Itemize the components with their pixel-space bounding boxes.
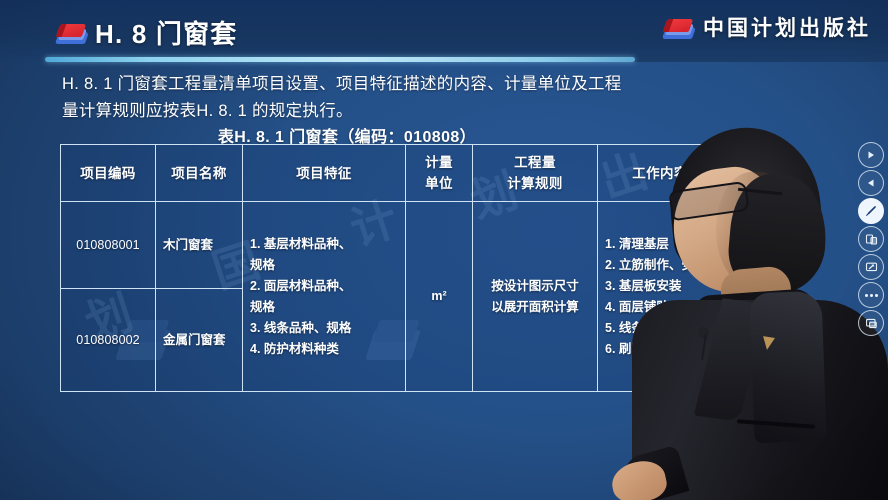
work-item: 6. 刷防护材料 bbox=[605, 339, 715, 360]
cell-name: 金属门窗套 bbox=[156, 289, 243, 392]
play-next-icon[interactable] bbox=[858, 142, 884, 168]
col-header-code: 项目编码 bbox=[61, 145, 156, 202]
more-dots-icon[interactable] bbox=[858, 282, 884, 308]
presenter-sleeve bbox=[619, 445, 690, 500]
cell-work-content: 1. 清理基层 2. 立筋制作、安装 3. 基层板安装 4. 面层铺贴 5. 线… bbox=[598, 202, 723, 392]
work-item: 4. 面层铺贴 bbox=[605, 297, 715, 318]
presenter-neck bbox=[719, 265, 795, 341]
page-title: H. 8 门窗套 bbox=[95, 14, 238, 51]
table-body: 010808001 木门窗套 1. 基层材料品种、 规格 2. 面层材料品种、 … bbox=[61, 202, 723, 392]
feature-item: 3. 线条品种、规格 bbox=[250, 318, 398, 339]
work-item: 3. 基层板安装 bbox=[605, 276, 715, 297]
cell-feature-list: 1. 基层材料品种、 规格 2. 面层材料品种、 规格 3. 线条品种、规格 4… bbox=[243, 202, 406, 392]
col-header-feature: 项目特征 bbox=[243, 145, 406, 202]
screen-share-icon[interactable] bbox=[858, 254, 884, 280]
pen-annotate-icon[interactable] bbox=[858, 198, 884, 224]
cell-name: 木门窗套 bbox=[156, 202, 243, 289]
rule-line: 以展开面积计算 bbox=[480, 297, 590, 318]
rule-line: 按设计图示尺寸 bbox=[480, 276, 590, 297]
work-item: 1. 清理基层 bbox=[605, 234, 715, 255]
book-icon bbox=[664, 15, 694, 39]
intro-line-2: 量计算规则应按表H. 8. 1 的规定执行。 bbox=[62, 98, 642, 125]
col-header-work: 工作内容 bbox=[598, 145, 723, 202]
table-row: 010808001 木门窗套 1. 基层材料品种、 规格 2. 面层材料品种、 … bbox=[61, 202, 723, 289]
table-header-row: 项目编码 项目名称 项目特征 计量 单位 工程量 计算规则 工作内容 bbox=[61, 145, 723, 202]
cell-calculation-rule: 按设计图示尺寸 以展开面积计算 bbox=[473, 202, 598, 392]
feature-item: 4. 防护材料种类 bbox=[250, 339, 398, 360]
col-header-unit: 计量 单位 bbox=[406, 145, 473, 202]
cell-code: 010808002 bbox=[61, 289, 156, 392]
feature-item: 1. 基层材料品种、 bbox=[250, 234, 398, 255]
intro-line-1: H. 8. 1 门窗套工程量清单项目设置、项目特征描述的内容、计量单位及工程 bbox=[62, 71, 642, 98]
right-toolbar[interactable] bbox=[854, 142, 888, 336]
presenter-lapel-right bbox=[749, 291, 826, 443]
col-header-unit-line2: 单位 bbox=[413, 173, 465, 194]
col-header-rule: 工程量 计算规则 bbox=[473, 145, 598, 202]
work-item: 5. 线条安装 bbox=[605, 318, 715, 339]
presenter-lapel-pin bbox=[761, 336, 775, 351]
publisher-brand: 中国计划出版社 bbox=[664, 12, 871, 42]
presenter-hair-back bbox=[725, 171, 831, 299]
feature-item: 规格 bbox=[250, 255, 398, 276]
col-header-name: 项目名称 bbox=[156, 145, 243, 202]
book-icon bbox=[57, 20, 87, 44]
presenter-jacket-pocket bbox=[737, 419, 815, 428]
presenter-glasses-arm bbox=[738, 188, 782, 196]
table-head: 项目编码 项目名称 项目特征 计量 单位 工程量 计算规则 工作内容 bbox=[61, 145, 723, 202]
copy-window-icon[interactable] bbox=[858, 226, 884, 252]
presenter-ear bbox=[762, 215, 784, 245]
presenter-hand bbox=[612, 457, 670, 500]
publisher-name: 中国计划出版社 bbox=[703, 12, 871, 42]
play-prev-icon[interactable] bbox=[858, 170, 884, 196]
col-header-unit-line1: 计量 bbox=[413, 152, 465, 173]
feature-item: 2. 面层材料品种、 bbox=[250, 276, 398, 297]
screenshot-icon[interactable] bbox=[858, 310, 884, 336]
lecture-slide-screen: H. 8 门窗套 中国计划出版社 划 国 计 划 出 社 H. 8. 1 门窗套… bbox=[0, 0, 888, 500]
title-underline bbox=[45, 57, 635, 62]
cell-unit: m² bbox=[406, 202, 473, 392]
intro-paragraph: H. 8. 1 门窗套工程量清单项目设置、项目特征描述的内容、计量单位及工程 量… bbox=[62, 71, 642, 125]
col-header-rule-line1: 工程量 bbox=[480, 152, 590, 173]
work-item: 2. 立筋制作、安装 bbox=[605, 255, 715, 276]
feature-item: 规格 bbox=[250, 297, 398, 318]
specification-table: 项目编码 项目名称 项目特征 计量 单位 工程量 计算规则 工作内容 bbox=[60, 144, 723, 392]
presenter-face-shadow bbox=[716, 172, 792, 288]
col-header-rule-line2: 计算规则 bbox=[480, 173, 590, 194]
cell-code: 010808001 bbox=[61, 202, 156, 289]
